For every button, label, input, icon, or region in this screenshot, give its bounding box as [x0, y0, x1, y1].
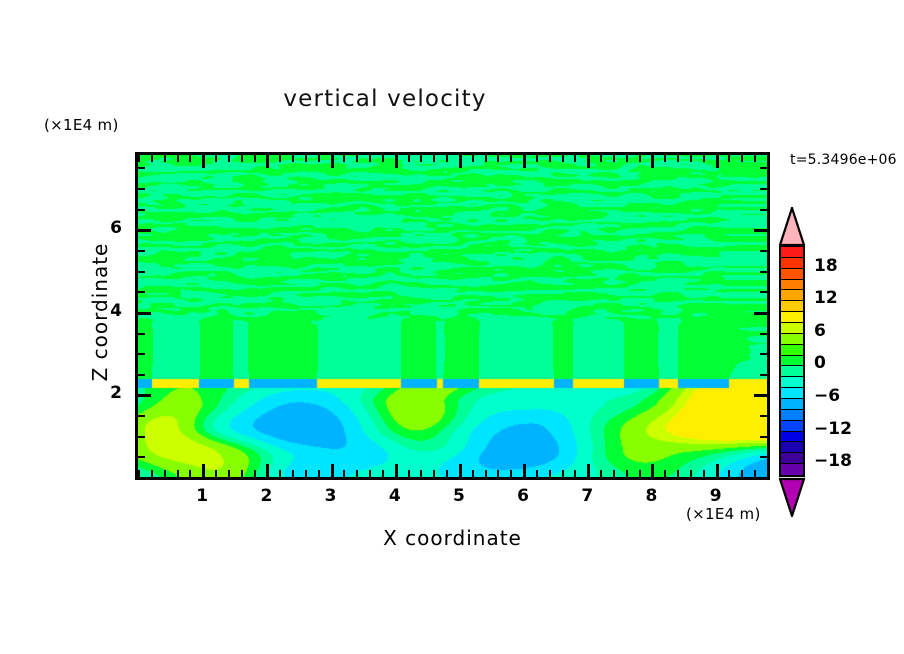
colorbar-band: [781, 356, 803, 367]
colorbar-band: [781, 334, 803, 345]
colorbar-band: [781, 388, 803, 399]
colorbar-band: [781, 399, 803, 410]
x-tick-label: 9: [701, 486, 731, 506]
x-tick-label: 1: [187, 486, 217, 506]
colorbar-band: [781, 366, 803, 377]
colorbar-tick-label: 0: [814, 353, 826, 373]
x-axis-unit-label: (×1E4 m): [686, 505, 761, 523]
colorbar-band: [781, 464, 803, 475]
colorbar-top-cap-icon: [779, 207, 805, 246]
timestamp-annotation: t=5.3496e+06: [790, 152, 897, 168]
colorbar-band: [781, 280, 803, 291]
colorbar-tick-label: −18: [814, 451, 852, 471]
x-tick-label: 8: [636, 486, 666, 506]
x-tick-label: 4: [380, 486, 410, 506]
colorbar-band: [781, 247, 803, 258]
colorbar-band: [781, 323, 803, 334]
y-tick-label: 4: [96, 301, 122, 321]
colorbar: [779, 207, 805, 517]
colorbar-tick-label: 12: [814, 288, 838, 308]
contour-field-canvas: [138, 155, 767, 477]
colorbar-band: [781, 410, 803, 421]
colorbar-band: [781, 345, 803, 356]
colorbar-bottom-cap-icon: [779, 477, 805, 517]
colorbar-band: [781, 453, 803, 464]
colorbar-band: [781, 258, 803, 269]
colorbar-band: [781, 432, 803, 443]
colorbar-band: [781, 301, 803, 312]
colorbar-band: [781, 377, 803, 388]
colorbar-band: [781, 269, 803, 280]
colorbar-tick-label: 18: [814, 256, 838, 276]
page-title: vertical velocity: [0, 86, 770, 112]
contour-plot-area: [135, 152, 770, 480]
x-tick-label: 3: [316, 486, 346, 506]
colorbar-band: [781, 290, 803, 301]
colorbar-tick-label: −6: [814, 386, 840, 406]
colorbar-tick-label: −12: [814, 419, 852, 439]
y-tick-label: 6: [96, 218, 122, 238]
x-tick-label: 2: [251, 486, 281, 506]
colorbar-tick-label: 6: [814, 321, 826, 341]
colorbar-bottom-cap-icon: [779, 477, 805, 517]
x-axis-title: X coordinate: [135, 526, 770, 550]
colorbar-band: [781, 421, 803, 432]
y-tick-label: 2: [96, 383, 122, 403]
x-tick-label: 7: [572, 486, 602, 506]
x-tick-label: 5: [444, 486, 474, 506]
colorbar-top-cap-icon: [779, 207, 805, 246]
colorbar-bands: [779, 245, 805, 477]
colorbar-band: [781, 442, 803, 453]
y-axis-unit-label: (×1E4 m): [44, 116, 119, 134]
x-tick-label: 6: [508, 486, 538, 506]
colorbar-band: [781, 312, 803, 323]
